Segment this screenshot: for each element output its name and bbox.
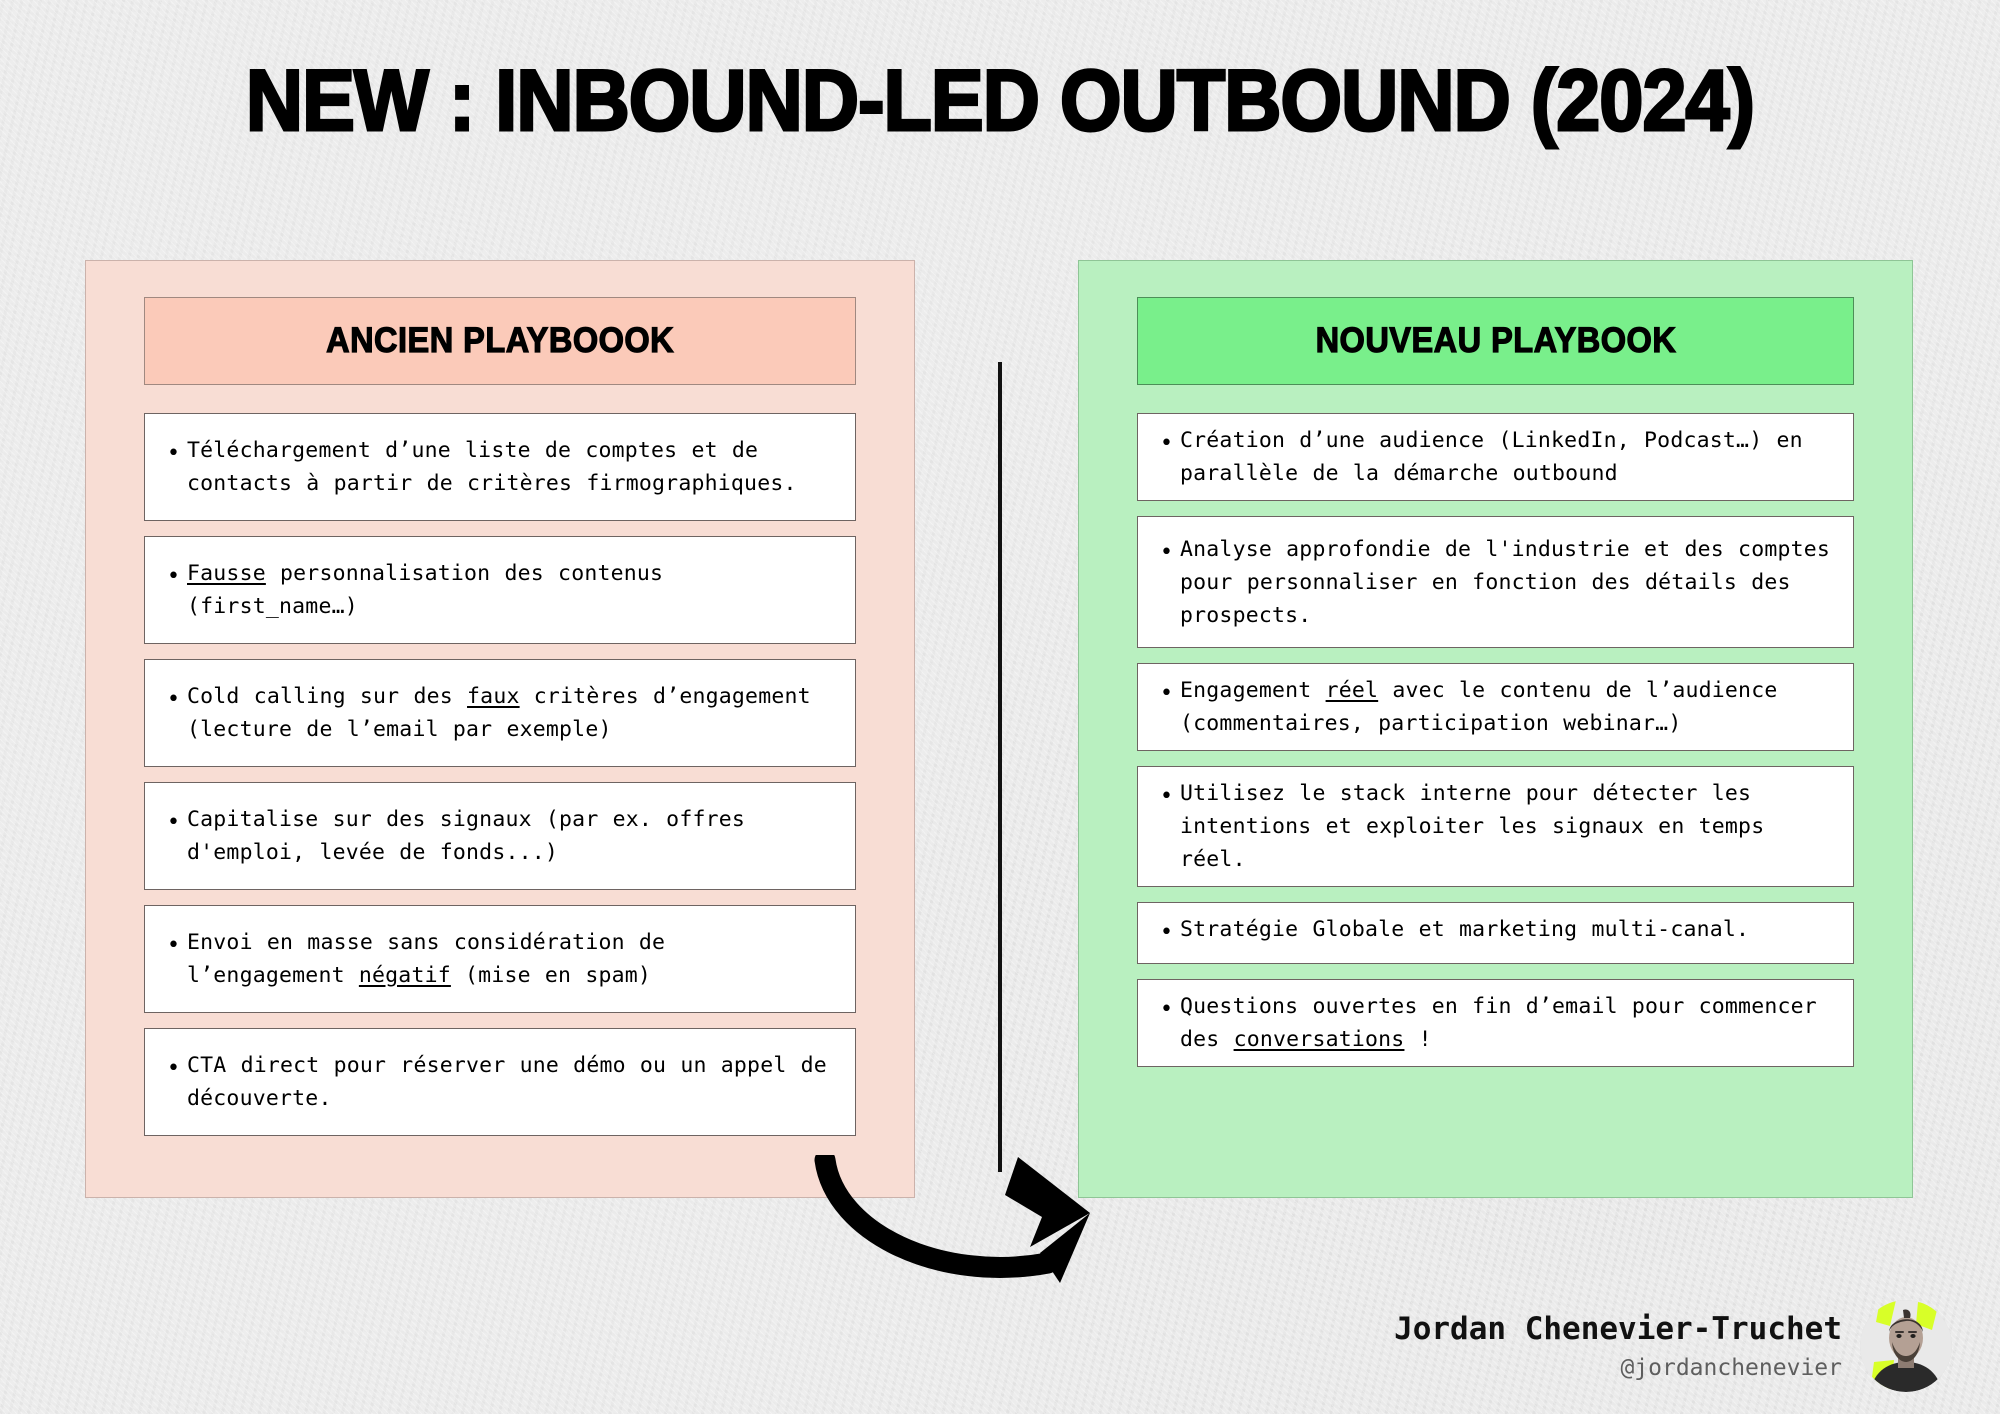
old-playbook-item: • CTA direct pour réserver une démo ou u…: [144, 1028, 856, 1136]
page-title: NEW : INBOUND-LED OUTBOUND (2024): [80, 52, 1920, 151]
new-playbook-item-text: Utilisez le stack interne pour détecter …: [1180, 777, 1833, 876]
new-playbook-item-text: Analyse approfondie de l'industrie et de…: [1180, 533, 1833, 632]
bullet-icon: •: [167, 1049, 187, 1089]
bullet-icon: •: [1160, 913, 1180, 953]
bullet-icon: •: [167, 926, 187, 966]
bullet-icon: •: [1160, 990, 1180, 1030]
curved-arrow-right-icon: [790, 1155, 1210, 1315]
item-text-underlined: Fausse: [187, 561, 266, 586]
bullet-icon: •: [1160, 533, 1180, 573]
bullet-icon: •: [167, 434, 187, 474]
bullet-icon: •: [167, 557, 187, 597]
old-playbook-item-text: Téléchargement d’une liste de comptes et…: [187, 434, 835, 500]
bullet-icon: •: [1160, 674, 1180, 714]
new-playbook-header: NOUVEAU PLAYBOOK: [1137, 297, 1854, 385]
item-text-before: CTA direct pour réserver une démo ou un …: [187, 1053, 827, 1111]
item-text-before: Création d’une audience (LinkedIn, Podca…: [1180, 428, 1803, 486]
new-playbook-item: • Engagement réel avec le contenu de l’a…: [1137, 663, 1854, 751]
old-playbook-item: • Envoi en masse sans considération de l…: [144, 905, 856, 1013]
bullet-icon: •: [167, 803, 187, 843]
new-playbook-item-text: Questions ouvertes en fin d’email pour c…: [1180, 990, 1833, 1056]
old-playbook-item-text: Cold calling sur des faux critères d’eng…: [187, 680, 835, 746]
item-text-underlined: faux: [467, 684, 520, 709]
old-playbook-item: • Téléchargement d’une liste de comptes …: [144, 413, 856, 521]
item-text-underlined: réel: [1326, 678, 1379, 703]
author-text-block: Jordan Chenevier-Truchet @jordanchenevie…: [1394, 1311, 1842, 1381]
item-text-before: Téléchargement d’une liste de comptes et…: [187, 438, 797, 496]
item-text-before: Cold calling sur des: [187, 684, 467, 709]
new-playbook-item-text: Engagement réel avec le contenu de l’aud…: [1180, 674, 1833, 740]
old-playbook-item: • Fausse personnalisation des contenus (…: [144, 536, 856, 644]
item-text-before: Stratégie Globale et marketing multi-can…: [1180, 917, 1749, 942]
item-text-before: Analyse approfondie de l'industrie et de…: [1180, 537, 1830, 628]
old-playbook-item: • Capitalise sur des signaux (par ex. of…: [144, 782, 856, 890]
old-playbook-item-text: CTA direct pour réserver une démo ou un …: [187, 1049, 835, 1115]
bullet-icon: •: [1160, 777, 1180, 817]
item-text-before: Utilisez le stack interne pour détecter …: [1180, 781, 1764, 872]
new-playbook-header-label: NOUVEAU PLAYBOOK: [1315, 321, 1676, 361]
new-playbook-item: • Analyse approfondie de l'industrie et …: [1137, 516, 1854, 648]
old-playbook-item-text: Fausse personnalisation des contenus (fi…: [187, 557, 835, 623]
item-text-before: Capitalise sur des signaux (par ex. offr…: [187, 807, 745, 865]
item-text-after: !: [1404, 1027, 1431, 1052]
new-playbook-item: • Utilisez le stack interne pour détecte…: [1137, 766, 1854, 887]
new-playbook-panel: NOUVEAU PLAYBOOK • Création d’une audien…: [1078, 260, 1913, 1198]
new-playbook-card-list: • Création d’une audience (LinkedIn, Pod…: [1137, 413, 1854, 1163]
old-playbook-panel: ANCIEN PLAYBOOOK • Téléchargement d’une …: [85, 260, 915, 1198]
item-text-before: Engagement: [1180, 678, 1326, 703]
bullet-icon: •: [167, 680, 187, 720]
author-signature: Jordan Chenevier-Truchet @jordanchenevie…: [1394, 1300, 1952, 1392]
new-playbook-item-text: Stratégie Globale et marketing multi-can…: [1180, 913, 1833, 946]
old-playbook-item-text: Capitalise sur des signaux (par ex. offr…: [187, 803, 835, 869]
old-playbook-card-list: • Téléchargement d’une liste de comptes …: [144, 413, 856, 1163]
avatar-portrait-icon: [1860, 1300, 1952, 1392]
author-handle: @jordanchenevier: [1394, 1355, 1842, 1381]
item-text-underlined: négatif: [359, 963, 451, 988]
old-playbook-header: ANCIEN PLAYBOOOK: [144, 297, 856, 385]
new-playbook-item: • Questions ouvertes en fin d’email pour…: [1137, 979, 1854, 1067]
item-text-after: (mise en spam): [451, 963, 651, 988]
bullet-icon: •: [1160, 424, 1180, 464]
avatar: [1860, 1300, 1952, 1392]
new-playbook-item: • Stratégie Globale et marketing multi-c…: [1137, 902, 1854, 964]
old-playbook-header-label: ANCIEN PLAYBOOOK: [326, 321, 674, 361]
author-name: Jordan Chenevier-Truchet: [1394, 1311, 1842, 1347]
old-playbook-item: • Cold calling sur des faux critères d’e…: [144, 659, 856, 767]
new-playbook-item: • Création d’une audience (LinkedIn, Pod…: [1137, 413, 1854, 501]
new-playbook-item-text: Création d’une audience (LinkedIn, Podca…: [1180, 424, 1833, 490]
vertical-divider: [998, 362, 1002, 1172]
item-text-underlined: conversations: [1234, 1027, 1405, 1052]
old-playbook-item-text: Envoi en masse sans considération de l’e…: [187, 926, 835, 992]
